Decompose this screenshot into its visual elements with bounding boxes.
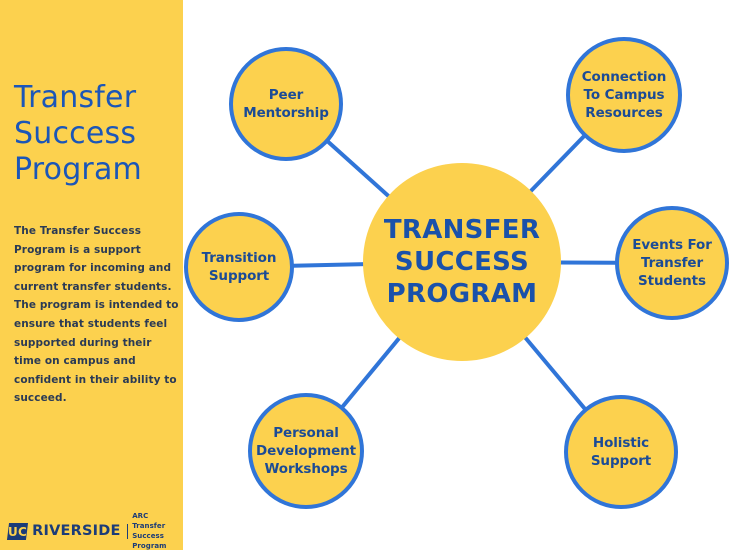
- diagram-node-peer-mentorship[interactable]: Peer Mentorship: [229, 47, 343, 161]
- diagram-center-node[interactable]: TRANSFER SUCCESS PROGRAM: [363, 163, 561, 361]
- diagram-node-transition-support[interactable]: Transition Support: [184, 212, 294, 322]
- diagram-node-peer-mentorship-label: Peer Mentorship: [237, 86, 335, 122]
- poster-canvas: Transfer Success Program The Transfer Su…: [0, 0, 733, 550]
- diagram-node-connection-to-campus[interactable]: Connection To Campus Resources: [566, 37, 682, 153]
- connector-holistic-support: [524, 336, 585, 409]
- diagram-node-personal-development-label: Personal Development Workshops: [250, 424, 362, 478]
- diagram-node-transition-support-label: Transition Support: [196, 249, 283, 285]
- connector-connection-to-campus: [530, 136, 585, 192]
- diagram-node-events-for-transfer[interactable]: Events For Transfer Students: [615, 206, 729, 320]
- diagram-node-connection-to-campus-label: Connection To Campus Resources: [576, 68, 673, 122]
- diagram-center-node-label: TRANSFER SUCCESS PROGRAM: [378, 214, 546, 310]
- connector-peer-mentorship: [328, 141, 390, 197]
- diagram-node-personal-development[interactable]: Personal Development Workshops: [248, 393, 364, 509]
- diagram-node-holistic-support[interactable]: Holistic Support: [564, 395, 678, 509]
- connector-personal-development: [342, 337, 400, 407]
- hub-and-spoke-diagram: Peer MentorshipConnection To Campus Reso…: [0, 0, 733, 550]
- connector-transition-support: [293, 264, 365, 266]
- diagram-node-events-for-transfer-label: Events For Transfer Students: [626, 236, 718, 290]
- diagram-node-holistic-support-label: Holistic Support: [585, 434, 657, 470]
